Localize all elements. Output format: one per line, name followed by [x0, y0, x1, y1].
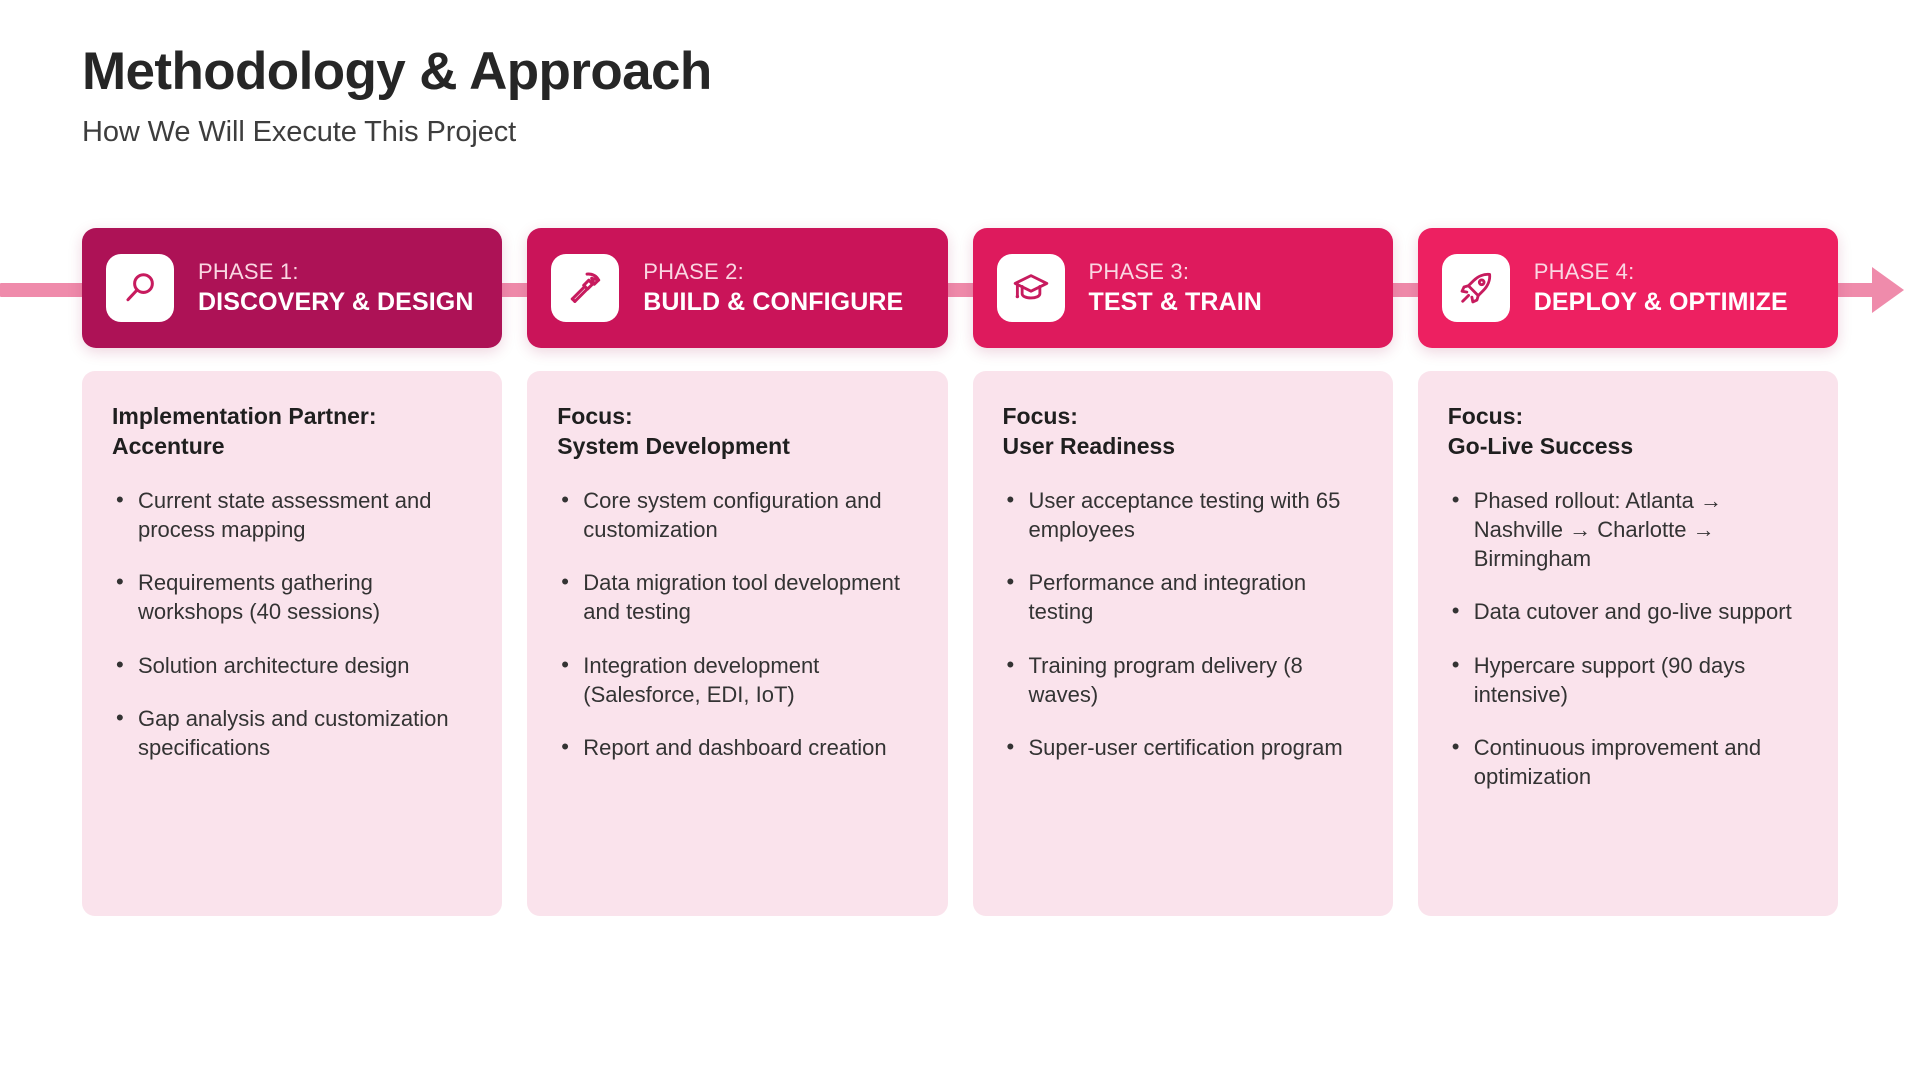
list-item: Continuous improvement and optimization [1448, 733, 1810, 792]
card-bullet-list-4: Phased rollout: Atlanta → Nashville → Ch… [1448, 486, 1810, 792]
rocket-icon [1442, 254, 1510, 322]
phase-header-4[interactable]: PHASE 4: DEPLOY & OPTIMIZE [1418, 228, 1838, 348]
card-bullet-list-1: Current state assessment and process map… [112, 486, 474, 763]
card-focus-value-1: Accenture [112, 431, 474, 461]
list-item: Report and dashboard creation [557, 733, 919, 762]
phase-header-3[interactable]: PHASE 3: TEST & TRAIN [973, 228, 1393, 348]
card-focus-value-4: Go-Live Success [1448, 431, 1810, 461]
graduation-cap-icon [997, 254, 1065, 322]
magnifier-icon [106, 254, 174, 322]
phase-name-4: DEPLOY & OPTIMIZE [1534, 287, 1788, 318]
list-item: Integration development (Salesforce, EDI… [557, 651, 919, 710]
card-focus-label-3: Focus: [1003, 401, 1365, 431]
list-item: Current state assessment and process map… [112, 486, 474, 545]
phase-card-1: Implementation Partner: Accenture Curren… [82, 371, 502, 916]
list-item: Data cutover and go-live support [1448, 597, 1810, 626]
list-item: User acceptance testing with 65 employee… [1003, 486, 1365, 545]
list-item: Data migration tool development and test… [557, 568, 919, 627]
card-focus-label-2: Focus: [557, 401, 919, 431]
card-focus-value-3: User Readiness [1003, 431, 1365, 461]
phase-card-3: Focus: User Readiness User acceptance te… [973, 371, 1393, 916]
phase-name-3: TEST & TRAIN [1089, 287, 1262, 318]
hammer-icon [551, 254, 619, 322]
list-item: Gap analysis and customization specifica… [112, 704, 474, 763]
phase-kicker-4: PHASE 4: [1534, 258, 1788, 287]
card-focus-value-2: System Development [557, 431, 919, 461]
page-subtitle: How We Will Execute This Project [82, 115, 712, 150]
card-focus-label-4: Focus: [1448, 401, 1810, 431]
list-item: Training program delivery (8 waves) [1003, 651, 1365, 710]
phase-header-text-4: PHASE 4: DEPLOY & OPTIMIZE [1534, 258, 1788, 318]
phase-name-1: DISCOVERY & DESIGN [198, 287, 473, 318]
phase-card-row: Implementation Partner: Accenture Curren… [82, 371, 1838, 916]
phase-kicker-3: PHASE 3: [1089, 258, 1262, 287]
arrow-right-icon [1872, 267, 1904, 313]
phase-header-1[interactable]: PHASE 1: DISCOVERY & DESIGN [82, 228, 502, 348]
page-title: Methodology & Approach [82, 42, 712, 103]
list-item: Super-user certification program [1003, 733, 1365, 762]
slide-header: Methodology & Approach How We Will Execu… [82, 42, 712, 150]
list-item: Solution architecture design [112, 651, 474, 680]
phase-card-4: Focus: Go-Live Success Phased rollout: A… [1418, 371, 1838, 916]
phase-header-text-3: PHASE 3: TEST & TRAIN [1089, 258, 1262, 318]
phase-kicker-1: PHASE 1: [198, 258, 473, 287]
phase-name-2: BUILD & CONFIGURE [643, 287, 903, 318]
phase-header-text-2: PHASE 2: BUILD & CONFIGURE [643, 258, 903, 318]
list-item: Performance and integration testing [1003, 568, 1365, 627]
list-item: Requirements gathering workshops (40 ses… [112, 568, 474, 627]
slide-root: Methodology & Approach How We Will Execu… [0, 0, 1920, 1080]
phase-header-2[interactable]: PHASE 2: BUILD & CONFIGURE [527, 228, 947, 348]
list-item: Hypercare support (90 days intensive) [1448, 651, 1810, 710]
card-bullet-list-3: User acceptance testing with 65 employee… [1003, 486, 1365, 763]
phase-card-2: Focus: System Development Core system co… [527, 371, 947, 916]
list-item: Core system configuration and customizat… [557, 486, 919, 545]
phase-kicker-2: PHASE 2: [643, 258, 903, 287]
card-bullet-list-2: Core system configuration and customizat… [557, 486, 919, 763]
card-focus-label-1: Implementation Partner: [112, 401, 474, 431]
phase-header-text-1: PHASE 1: DISCOVERY & DESIGN [198, 258, 473, 318]
list-item: Phased rollout: Atlanta → Nashville → Ch… [1448, 486, 1810, 574]
phase-header-row: PHASE 1: DISCOVERY & DESIGN PHASE 2: BUI… [82, 228, 1838, 348]
